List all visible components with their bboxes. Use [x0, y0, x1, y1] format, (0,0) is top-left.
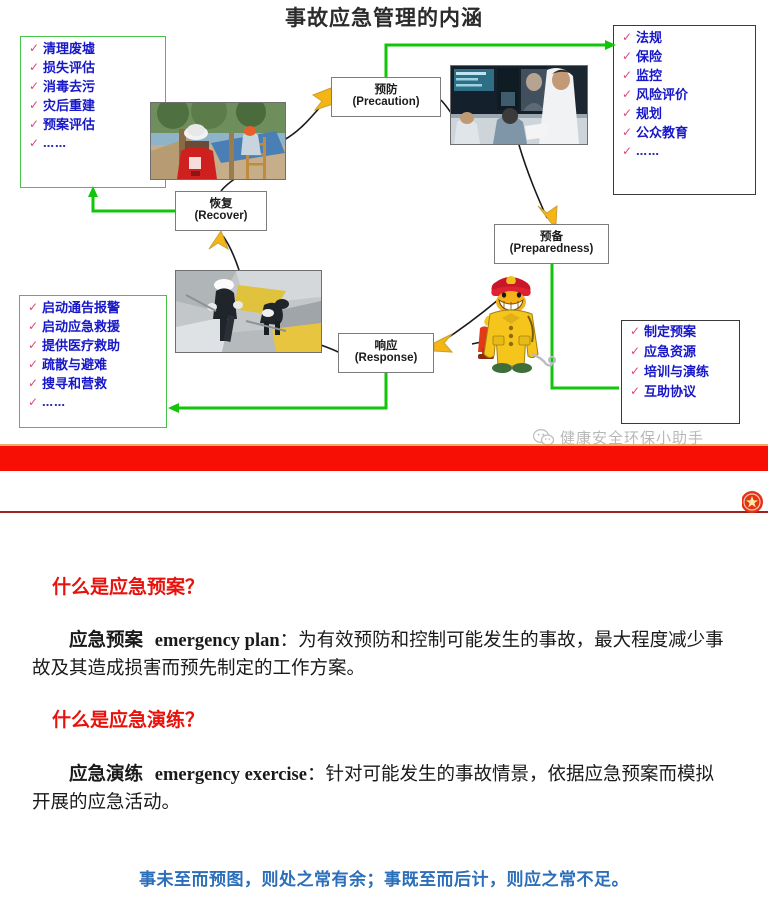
term-emergency-plan-cn: 应急预案 [69, 630, 143, 651]
motto-text: 事未至而预图，则处之常有余；事既至而后计，则应之常不足。 [0, 865, 768, 890]
photo-command-meeting [450, 65, 588, 145]
red-seal-decoration [742, 489, 768, 515]
node-precaution: 预防 (Precaution) [331, 77, 441, 117]
node-label-cn: 恢复 [176, 197, 266, 210]
node-label-en: (Response) [339, 352, 433, 366]
node-label-en: (Recover) [176, 210, 266, 224]
node-label-en: (Precaution) [332, 96, 440, 110]
node-label-cn: 预防 [332, 83, 440, 96]
heading-what-is-emergency-plan: 什么是应急预案？ [52, 572, 204, 599]
photo-rubble-search-rescue [175, 270, 322, 353]
node-recover: 恢复 (Recover) [175, 191, 267, 231]
node-label-cn: 响应 [339, 339, 433, 352]
red-accent-band [0, 446, 768, 471]
photo-recovery-rebuilding [150, 102, 286, 180]
slide-diagram: 事故应急管理的内涵 ✓清理废墟 ✓损失评估 ✓消毒去污 ✓灾后重 [0, 0, 768, 446]
firefighter-illustration [466, 272, 556, 380]
green-connector-lines [0, 0, 768, 446]
band-top-edge [0, 444, 768, 446]
heading-what-is-emergency-exercise: 什么是应急演练？ [52, 705, 204, 732]
node-preparedness: 预备 (Preparedness) [494, 224, 609, 264]
term-emergency-plan-en: emergency plan [155, 631, 280, 651]
paragraph-emergency-exercise: 应急演练 emergency exercise：针对可能发生的事故情景，依据应急… [32, 761, 732, 818]
section-divider [0, 511, 768, 513]
paragraph-emergency-plan: 应急预案 emergency plan：为有效预防和控制可能发生的事故，最大程度… [32, 627, 732, 684]
node-label-cn: 预备 [495, 230, 608, 243]
node-response: 响应 (Response) [338, 333, 434, 373]
node-label-en: (Preparedness) [495, 243, 608, 257]
term-emergency-exercise-cn: 应急演练 [69, 764, 143, 785]
term-emergency-exercise-en: emergency exercise [155, 765, 307, 785]
